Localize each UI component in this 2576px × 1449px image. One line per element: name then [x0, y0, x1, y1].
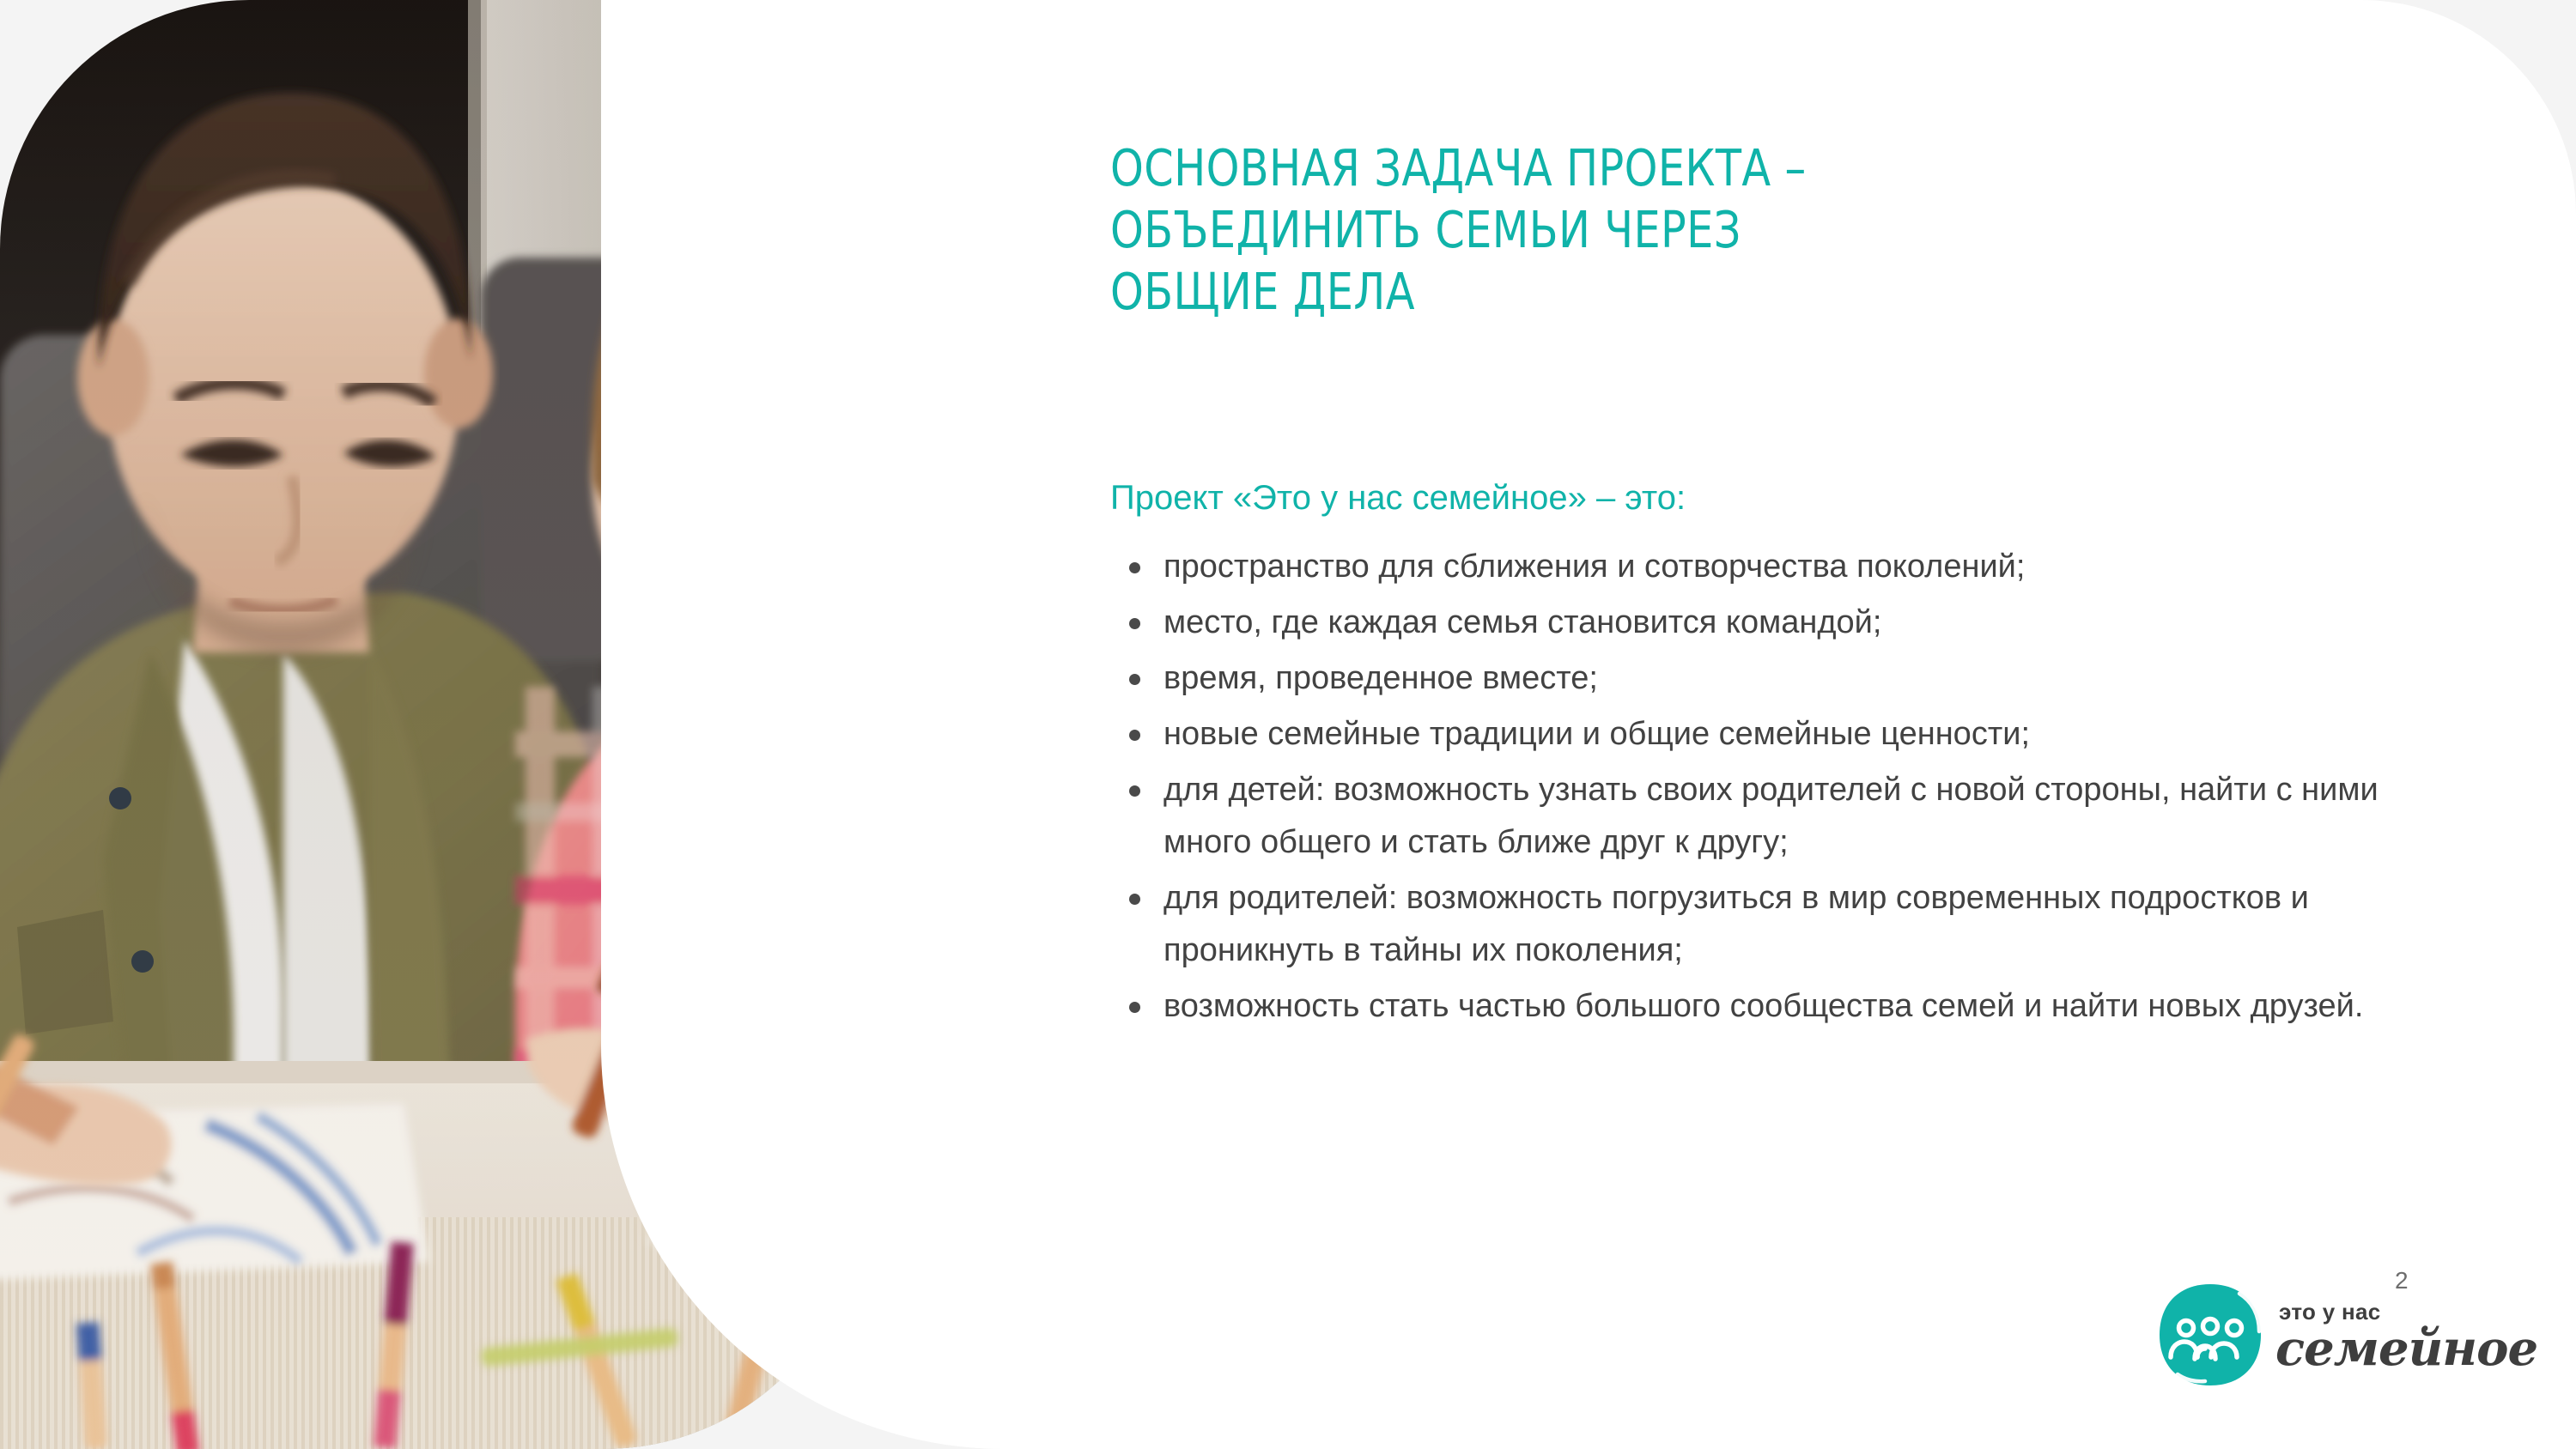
- list-item: возможность стать частью большого сообще…: [1110, 980, 2450, 1033]
- list-item: новые семейные традиции и общие семейные…: [1110, 708, 2450, 761]
- family-blob-icon: [2157, 1282, 2263, 1388]
- logo-wordmark: это у нас семейное: [2275, 1296, 2537, 1373]
- list-item: для детей: возможность узнать своих роди…: [1110, 764, 2450, 869]
- title-line-3: ОБЩИЕ ДЕЛА: [1110, 261, 2308, 323]
- title-line-1: ОСНОВНАЯ ЗАДАЧА ПРОЕКТА –: [1110, 137, 2308, 199]
- list-item: для родителей: возможность погрузиться в…: [1110, 872, 2450, 977]
- slide-root: ОСНОВНАЯ ЗАДАЧА ПРОЕКТА – ОБЪЕДИНИТЬ СЕМ…: [0, 0, 2576, 1449]
- benefits-list: пространство для сближения и сотворчеств…: [1110, 541, 2450, 1036]
- title-line-2: ОБЪЕДИНИТЬ СЕМЬИ ЧЕРЕЗ: [1110, 199, 2308, 261]
- list-item: место, где каждая семья становится коман…: [1110, 597, 2450, 649]
- list-item: пространство для сближения и сотворчеств…: [1110, 541, 2450, 593]
- page-title: ОСНОВНАЯ ЗАДАЧА ПРОЕКТА – ОБЪЕДИНИТЬ СЕМ…: [1110, 137, 2308, 323]
- list-item: время, проведенное вместе;: [1110, 652, 2450, 705]
- logo-name: семейное: [2275, 1320, 2537, 1377]
- lead-text: Проект «Это у нас семейное» – это:: [1110, 476, 1686, 519]
- brand-logo: это у нас семейное: [2157, 1276, 2526, 1392]
